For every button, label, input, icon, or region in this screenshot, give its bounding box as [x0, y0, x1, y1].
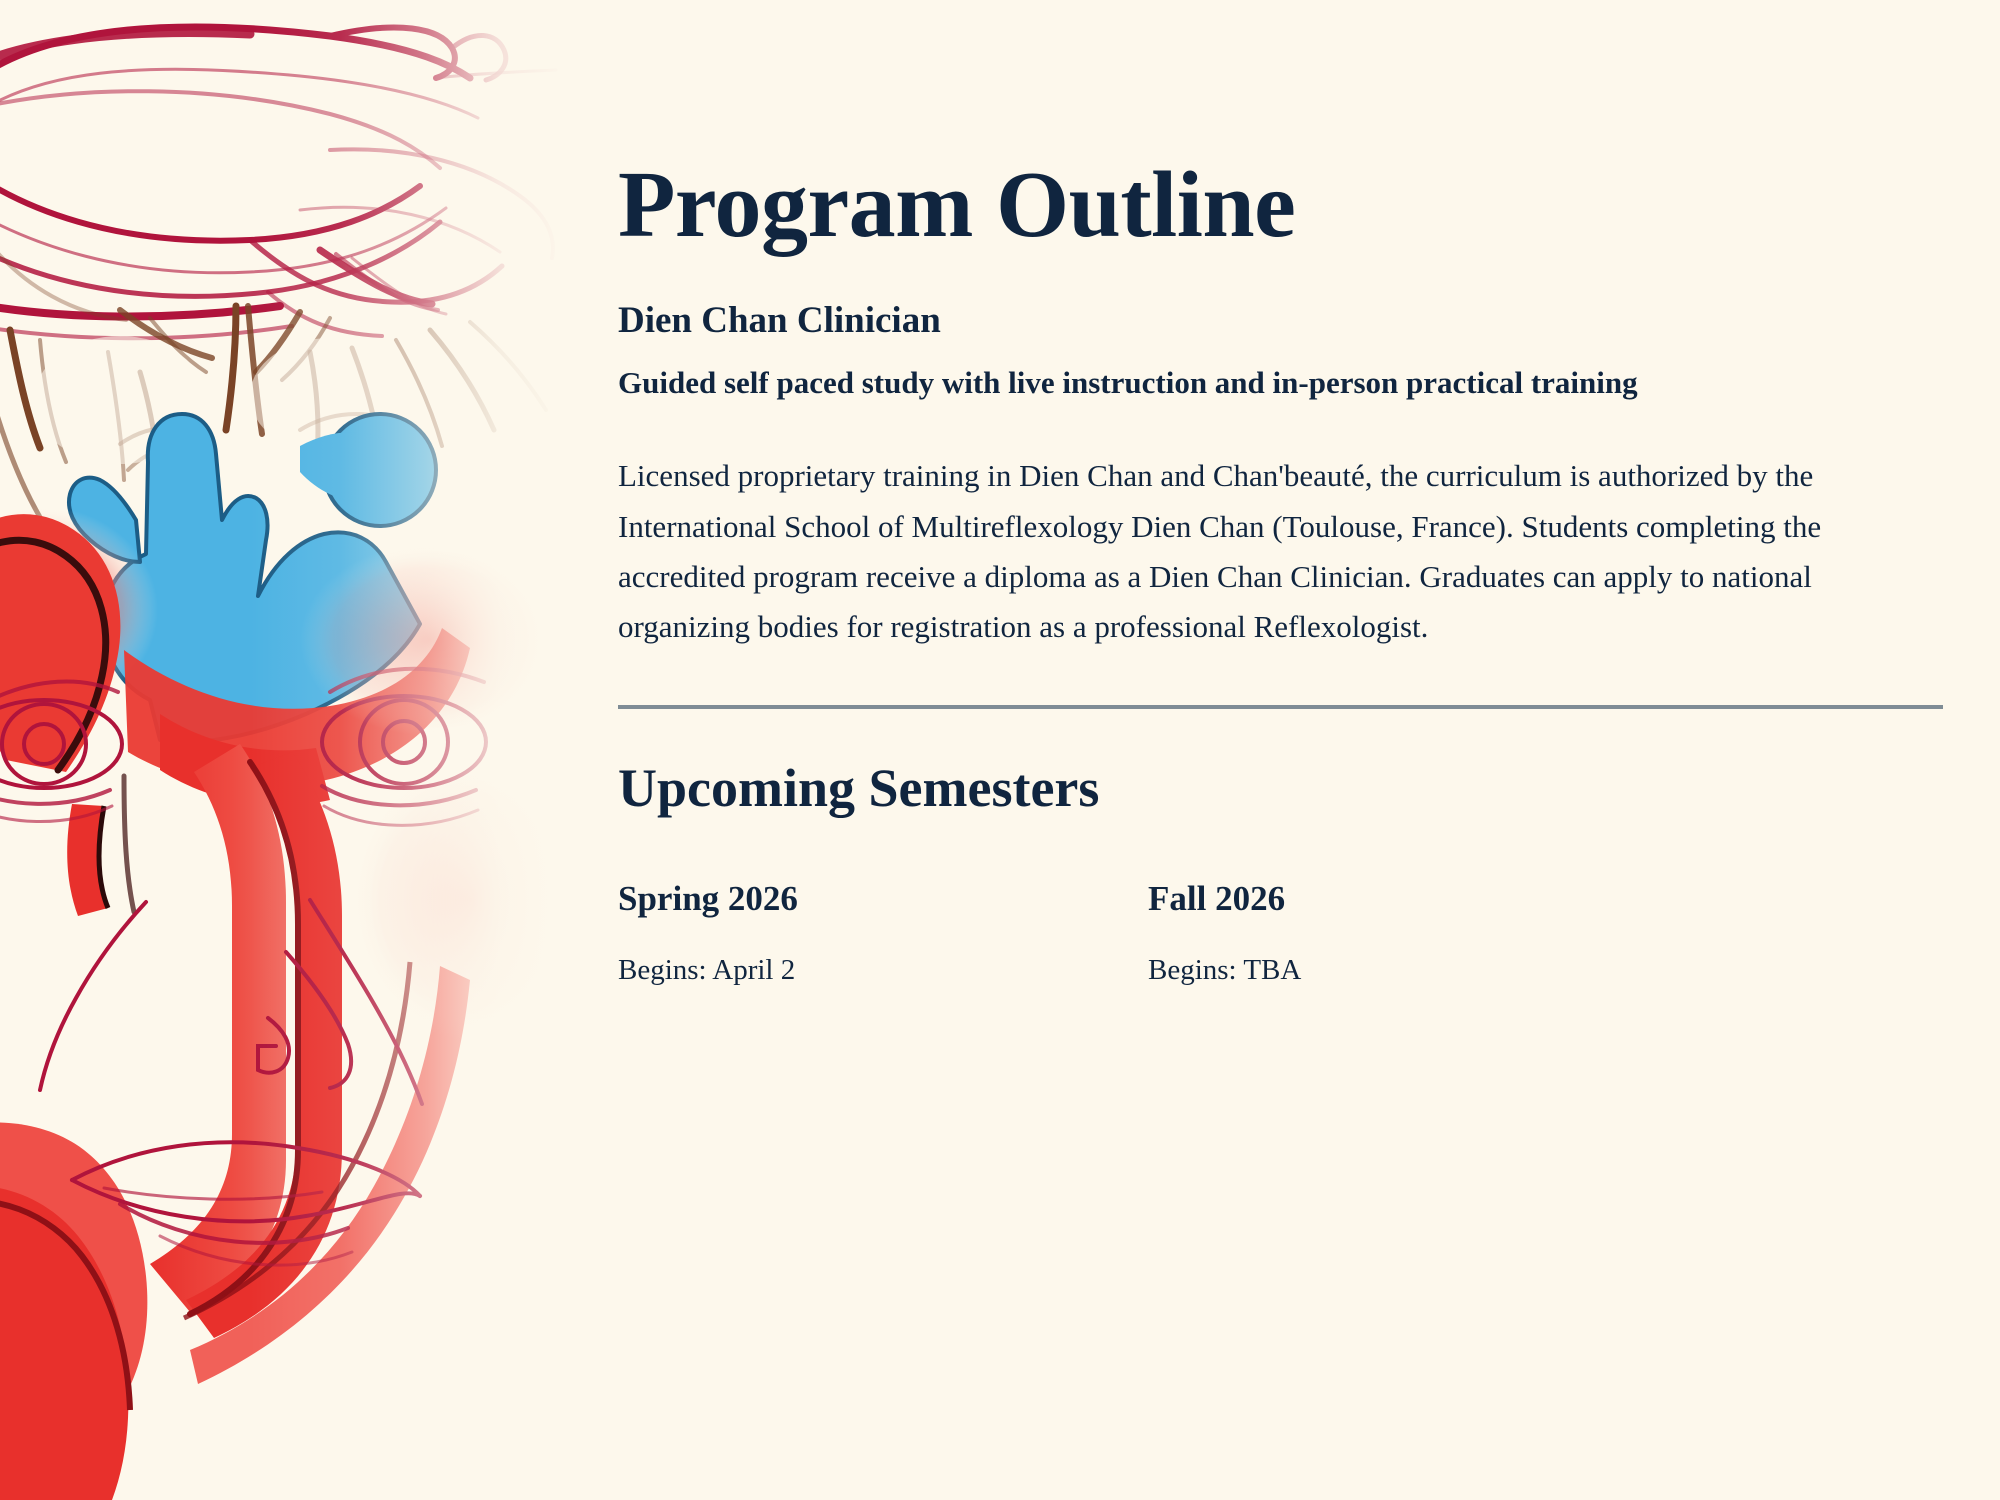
content-column: Program Outline Dien Chan Clinician Guid…	[618, 0, 1948, 1500]
page-title: Program Outline	[618, 0, 1948, 252]
dien-chan-face-illustration	[0, 0, 560, 1500]
program-tagline: Guided self paced study with live instru…	[618, 343, 1873, 404]
program-description: Licensed proprietary training in Dien Ch…	[618, 403, 1918, 652]
semester-start-date: Begins: April 2	[618, 916, 1148, 985]
semester-term: Spring 2026	[618, 881, 1148, 916]
semesters-grid: Spring 2026 Begins: April 2 Fall 2026 Be…	[618, 815, 1948, 985]
upcoming-semesters-heading: Upcoming Semesters	[618, 709, 1948, 815]
semester-start-date: Begins: TBA	[1148, 916, 1678, 985]
face-diagram-svg	[0, 0, 560, 1500]
semester-term: Fall 2026	[1148, 881, 1678, 916]
program-name: Dien Chan Clinician	[618, 252, 1948, 343]
semester-column-fall: Fall 2026 Begins: TBA	[1148, 881, 1678, 985]
slide: Program Outline Dien Chan Clinician Guid…	[0, 0, 2000, 1500]
semester-column-spring: Spring 2026 Begins: April 2	[618, 881, 1148, 985]
